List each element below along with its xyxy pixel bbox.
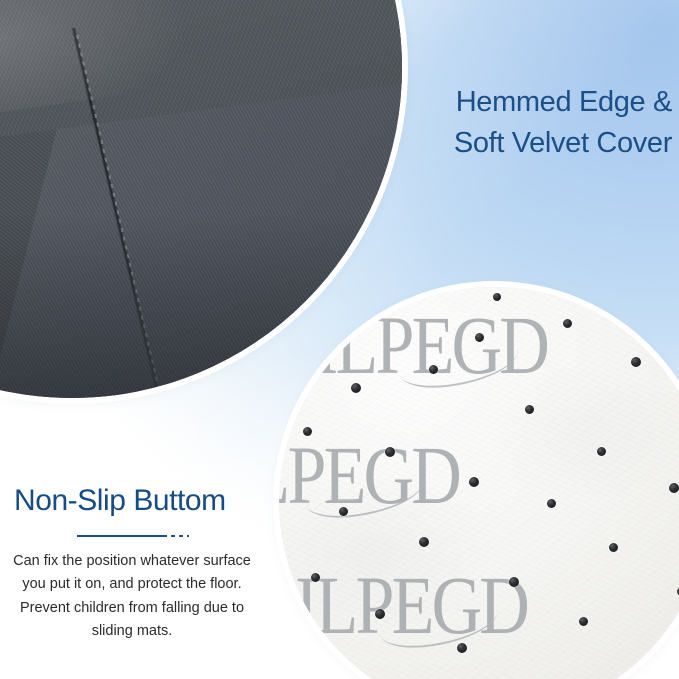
grip-dot bbox=[287, 339, 295, 347]
body-line-1: Can fix the position whatever surface bbox=[8, 550, 256, 573]
feature-heading-hemmed-edge: Hemmed Edge & Soft Velvet Cover bbox=[360, 82, 672, 164]
grip-dot bbox=[303, 427, 312, 436]
feature-heading-non-slip: Non-Slip Buttom bbox=[14, 484, 226, 518]
grip-dot bbox=[385, 447, 395, 457]
grip-dot bbox=[579, 617, 588, 626]
grip-dot bbox=[311, 573, 320, 582]
grip-dot bbox=[651, 653, 660, 662]
grip-dot bbox=[563, 319, 572, 328]
grip-dot bbox=[547, 499, 556, 508]
grip-dot bbox=[609, 543, 618, 552]
body-line-2: you put it on, and protect the floor. bbox=[8, 573, 256, 596]
grip-dot bbox=[631, 357, 641, 367]
grip-dot bbox=[339, 507, 348, 516]
grip-dot bbox=[375, 609, 385, 619]
body-line-3: Prevent children from falling due to bbox=[8, 597, 256, 620]
grip-dot bbox=[493, 293, 501, 301]
body-line-4: sliding mats. bbox=[8, 620, 256, 643]
divider-solid-rule bbox=[77, 535, 167, 537]
grip-dot bbox=[597, 447, 606, 456]
grip-dot bbox=[525, 405, 534, 414]
heading-line-1: Hemmed Edge & bbox=[360, 82, 672, 123]
divider-dashed-tail bbox=[171, 535, 189, 537]
product-infographic: ILPEGD ILPEGD ILPEGD Hemmed Edge & Soft … bbox=[0, 0, 679, 679]
grip-dot bbox=[351, 383, 361, 393]
grip-dot bbox=[335, 667, 344, 676]
grip-dot bbox=[457, 643, 467, 653]
grip-dot bbox=[469, 477, 479, 487]
grip-dot bbox=[669, 483, 679, 493]
grip-dot bbox=[509, 577, 519, 587]
grip-dot bbox=[429, 365, 438, 374]
heading-line-2: Soft Velvet Cover bbox=[360, 123, 672, 164]
grip-dot bbox=[419, 537, 429, 547]
heading-divider bbox=[77, 532, 189, 542]
grip-dot bbox=[475, 333, 484, 342]
feature-body-non-slip: Can fix the position whatever surface yo… bbox=[8, 550, 256, 644]
photo-circle-non-slip-backing: ILPEGD ILPEGD ILPEGD bbox=[279, 287, 679, 679]
non-slip-fabric-photo: ILPEGD ILPEGD ILPEGD bbox=[279, 287, 679, 679]
